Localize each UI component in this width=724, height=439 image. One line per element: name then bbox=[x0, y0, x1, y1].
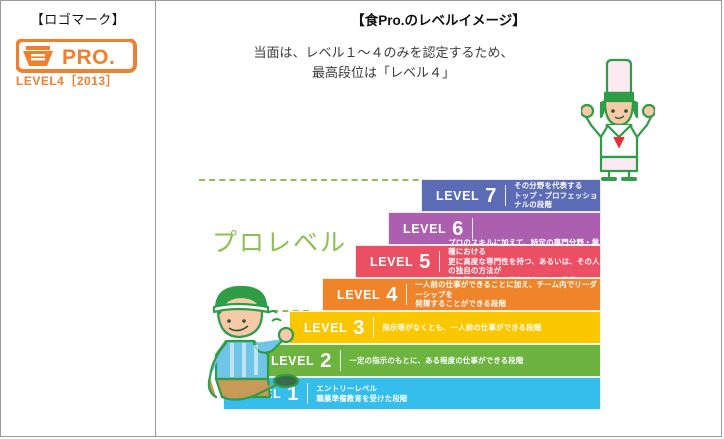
level-bar-7[interactable]: LEVEL7その分野を代表する トップ・プロフェッショナルの段階 bbox=[421, 179, 601, 212]
note-line-2: 最高段位は「レベル４」 bbox=[156, 63, 611, 83]
level-bar-number: 4 bbox=[380, 285, 397, 305]
level-bar-3[interactable]: LEVEL3指示等がなくとも、一人前の仕事ができる段階 bbox=[289, 311, 601, 344]
level-bar-separator bbox=[472, 218, 473, 239]
level-bar-4[interactable]: LEVEL4一人前の仕事ができることに加え、チーム内でリーダーシップを 発揮する… bbox=[322, 278, 601, 311]
youth-character-icon bbox=[196, 279, 304, 401]
slide-page: 【ロゴマーク】 PRO. LEVEL4［2013］ 【食Pro.のレベルイメージ… bbox=[0, 0, 722, 437]
level-bar-number: 7 bbox=[479, 186, 496, 206]
level-bar-label: LEVEL bbox=[422, 189, 479, 203]
note-text: 当面は、レベル１～４のみを認定するため、 最高段位は「レベル４」 bbox=[156, 43, 611, 83]
level-bar-description: 一定の指示のもとに、ある程度の仕事ができる段階 bbox=[341, 356, 523, 365]
level-bar-number: 5 bbox=[413, 252, 430, 272]
level-bar-description: その分野を代表する トップ・プロフェッショナルの段階 bbox=[506, 181, 600, 209]
logo-panel-heading: 【ロゴマーク】 bbox=[1, 9, 155, 28]
dashed-line-top bbox=[199, 179, 439, 181]
logo-badge-icon: PRO. bbox=[16, 39, 140, 73]
level-image-panel: 【食Pro.のレベルイメージ】 当面は、レベル１～４のみを認定するため、 最高段… bbox=[156, 1, 721, 436]
level-bar-description: 指示等がなくとも、一人前の仕事ができる段階 bbox=[374, 323, 541, 332]
shoku-pro-logo: PRO. LEVEL4［2013］ bbox=[16, 39, 140, 89]
level-bar-number: 3 bbox=[347, 318, 364, 338]
level-bar-label: LEVEL bbox=[389, 222, 446, 236]
level-bar-number: 2 bbox=[314, 351, 331, 371]
pro-level-label: プロレベル bbox=[212, 223, 347, 259]
logo-panel: 【ロゴマーク】 PRO. LEVEL4［2013］ bbox=[1, 1, 155, 436]
level-bar-description: 一人前の仕事ができることに加え、チーム内でリーダーシップを 発揮することができる… bbox=[407, 280, 600, 308]
level-bar-label: LEVEL bbox=[323, 288, 380, 302]
level-bar-5[interactable]: LEVEL5プロのスキルに加えて、特定の専門分野・業種における 更に高度な専門性… bbox=[355, 245, 601, 278]
main-panel-heading: 【食Pro.のレベルイメージ】 bbox=[156, 9, 721, 29]
logo-sub-label: LEVEL4［2013］ bbox=[16, 72, 136, 89]
level-bar-number: 6 bbox=[446, 219, 463, 239]
level-bar-2[interactable]: LEVEL2一定の指示のもとに、ある程度の仕事ができる段階 bbox=[256, 344, 601, 377]
svg-text:PRO.: PRO. bbox=[62, 46, 115, 69]
chef-character-icon bbox=[581, 53, 655, 181]
level-bar-label: LEVEL bbox=[356, 255, 413, 269]
level-bar-description: エントリーレベル 職業準備教育を受けた段階 bbox=[308, 384, 407, 403]
note-line-1: 当面は、レベル１～４のみを認定するため、 bbox=[156, 43, 611, 63]
